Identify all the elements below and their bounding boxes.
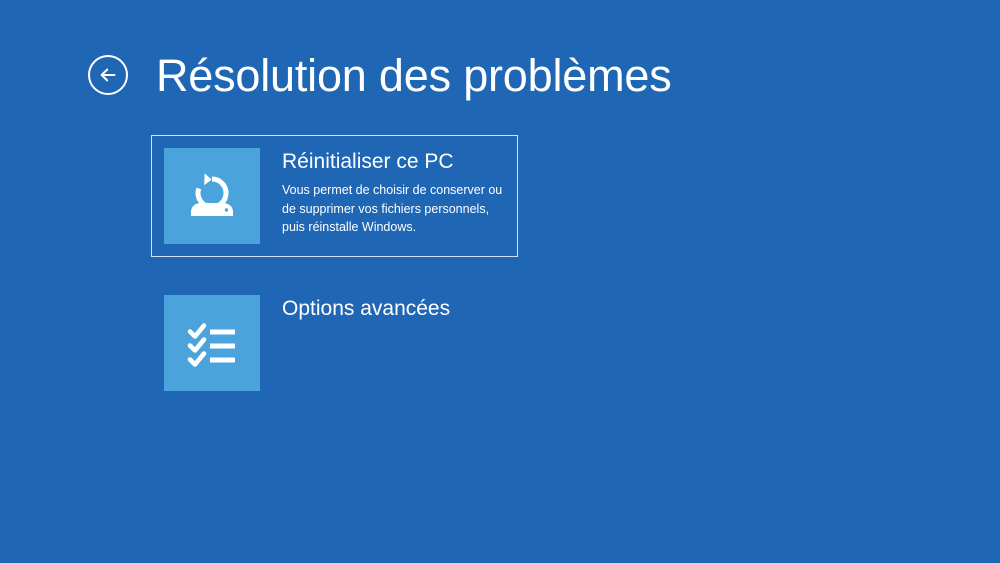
- page-title: Résolution des problèmes: [156, 53, 672, 98]
- back-arrow-circle-icon: [86, 53, 130, 97]
- page-header: Résolution des problèmes: [86, 44, 672, 106]
- back-button[interactable]: [86, 53, 130, 97]
- option-icon-tile: [164, 295, 260, 391]
- option-text-block: Réinitialiser ce PC Vous permet de chois…: [260, 148, 505, 237]
- option-icon-tile: [164, 148, 260, 244]
- option-reset-this-pc[interactable]: Réinitialiser ce PC Vous permet de chois…: [151, 135, 518, 257]
- option-advanced-options[interactable]: Options avancées: [151, 282, 671, 404]
- option-title: Options avancées: [282, 297, 450, 321]
- option-description: Vous permet de choisir de conserver ou d…: [282, 181, 505, 237]
- option-text-block: Options avancées: [260, 295, 450, 321]
- reset-pc-icon: [180, 164, 244, 228]
- checklist-icon: [180, 311, 244, 375]
- option-title: Réinitialiser ce PC: [282, 150, 505, 174]
- troubleshoot-options-list: Réinitialiser ce PC Vous permet de chois…: [151, 135, 671, 404]
- troubleshoot-screen: Résolution des problèmes Réinitialiser c…: [0, 0, 1000, 563]
